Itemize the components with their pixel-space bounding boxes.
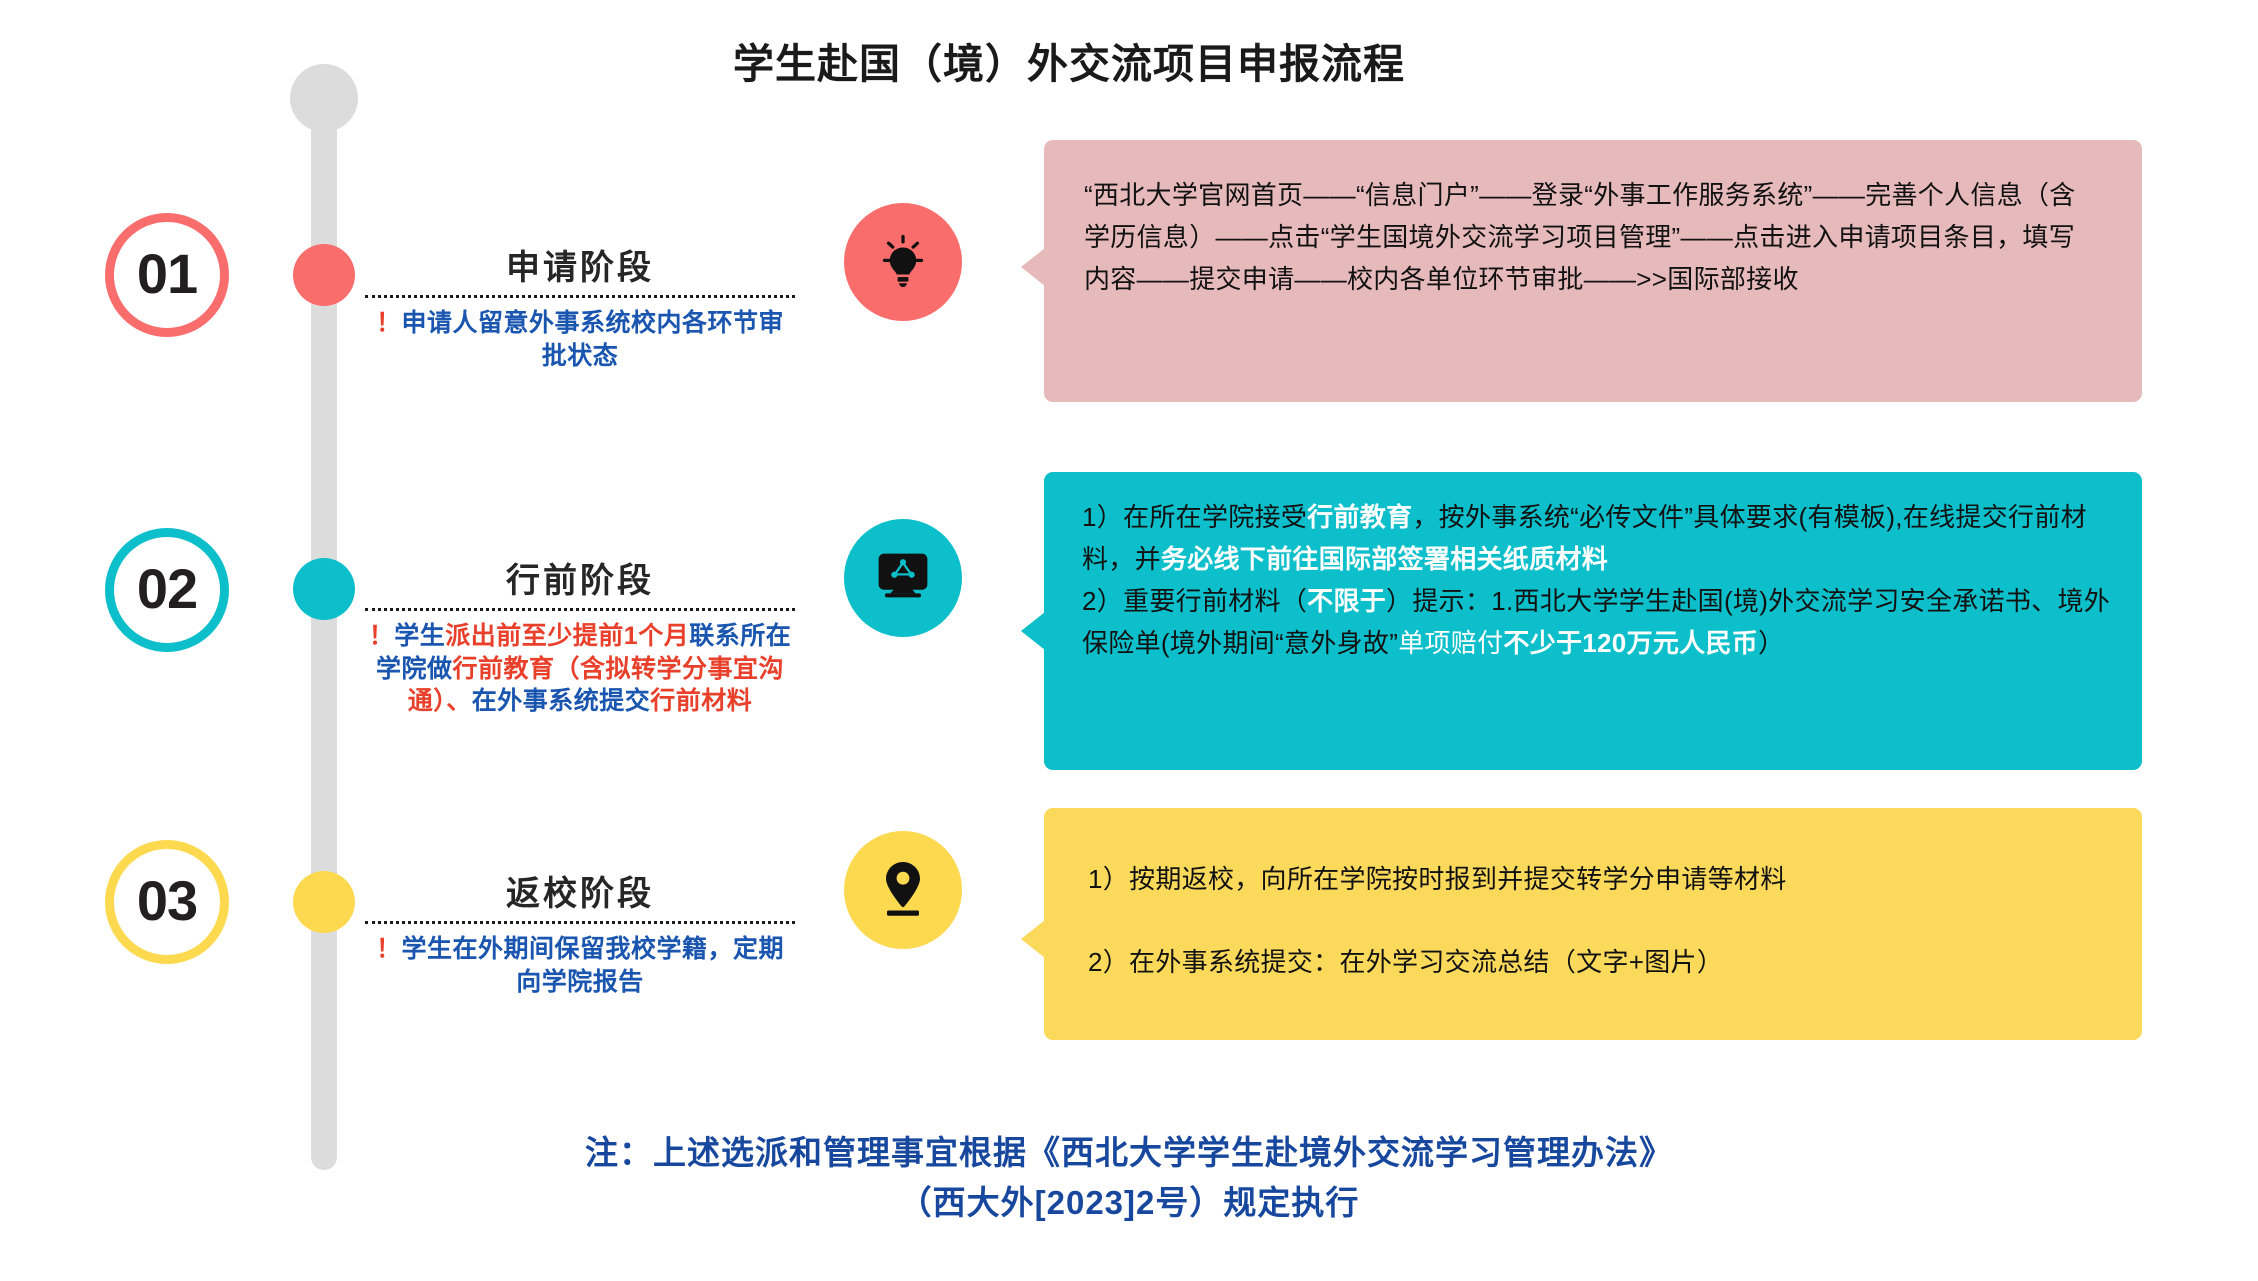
stage-card-01: “西北大学官网首页——“信息门户”——登录“外事工作服务系统”——完善个人信息（…	[1044, 140, 2142, 402]
infographic-canvas: 学生赴国（境）外交流项目申报流程 01 申请阶段 ！申请人留意外事系统校内各环节…	[0, 0, 2258, 1281]
card-paragraph: “西北大学官网首页——“信息门户”——登录“外事工作服务系统”——完善个人信息（…	[1084, 174, 2098, 300]
stage-note-02: ！学生派出前至少提前1个月联系所在学院做行前教育（含拟转学分事宜沟通）、在外事系…	[365, 620, 795, 718]
card-run-emphasis: 单项赔付	[1398, 628, 1503, 658]
stage-note-text-01: 申请人留意外事系统校内各环节审批状态	[402, 309, 785, 370]
timeline-dot-01	[293, 244, 355, 306]
stage-number-02: 02	[137, 561, 197, 617]
stage-note-text-03: 学生在外期间保留我校学籍，定期向学院报告	[402, 935, 785, 996]
card-notch-02	[1021, 612, 1045, 650]
map-pin-icon	[880, 860, 926, 920]
stage-note-seg: 派出前至少提前1个月	[445, 622, 689, 650]
stage-number-03: 03	[137, 873, 197, 929]
stage-note-seg: 在外事系统提交	[472, 687, 651, 715]
card-run-emphasis: 不少于120万元人民币	[1503, 628, 1758, 658]
stage-note-seg: 学生	[394, 622, 445, 650]
stage-label-block-01: 申请阶段 ！申请人留意外事系统校内各环节审批状态	[365, 250, 795, 372]
stage-note-bang-02: ！	[369, 622, 395, 650]
stage-label-block-02: 行前阶段 ！学生派出前至少提前1个月联系所在学院做行前教育（含拟转学分事宜沟通）…	[365, 563, 795, 718]
stage-divider-03	[365, 921, 795, 924]
easel-chart-icon	[873, 550, 933, 606]
card-run: ）	[1758, 628, 1784, 658]
footer-note: 注：上述选派和管理事宜根据《西北大学学生赴境外交流学习管理办法》 （西大外[20…	[0, 1128, 2258, 1228]
stage-number-ring-01: 01	[105, 213, 229, 337]
stage-icon-circle-02	[844, 519, 962, 637]
stage-title-01: 申请阶段	[365, 250, 795, 287]
stage-number-ring-02: 02	[105, 528, 229, 652]
stage-number-ring-03: 03	[105, 840, 229, 964]
stage-card-body-01: “西北大学官网首页——“信息门户”——登录“外事工作服务系统”——完善个人信息（…	[1084, 174, 2098, 300]
card-paragraph: 1）按期返校，向所在学院按时报到并提交转学分申请等材料	[1088, 860, 2098, 899]
timeline-dot-02	[293, 558, 355, 620]
stage-title-02: 行前阶段	[365, 563, 795, 600]
stage-note-seg: 行前材料	[650, 687, 752, 715]
stage-icon-circle-01	[844, 203, 962, 321]
stage-card-02: 1）在所在学院接受行前教育，按外事系统“必传文件”具体要求(有模板),在线提交行…	[1044, 472, 2142, 770]
lightbulb-icon	[874, 233, 932, 291]
stage-divider-01	[365, 295, 795, 298]
stage-card-body-03: 1）按期返校，向所在学院按时报到并提交转学分申请等材料 2）在外事系统提交：在外…	[1088, 860, 2098, 982]
stage-number-01: 01	[137, 246, 197, 302]
stage-card-03: 1）按期返校，向所在学院按时报到并提交转学分申请等材料 2）在外事系统提交：在外…	[1044, 808, 2142, 1040]
card-run: 1）在所在学院接受	[1082, 502, 1307, 532]
stage-note-01: ！申请人留意外事系统校内各环节审批状态	[365, 307, 795, 372]
footer-line-1: 注：上述选派和管理事宜根据《西北大学学生赴境外交流学习管理办法》	[585, 1134, 1673, 1171]
card-notch-01	[1021, 248, 1045, 286]
card-run: 2）重要行前材料（	[1082, 586, 1307, 616]
card-run-emphasis: 行前教育	[1307, 502, 1412, 532]
stage-divider-02	[365, 608, 795, 611]
stage-note-bang-03: ！	[376, 935, 402, 963]
timeline-dot-03	[293, 871, 355, 933]
stage-title-03: 返校阶段	[365, 876, 795, 913]
card-paragraph: 2）重要行前材料（不限于）提示：1.西北大学学生赴国(境)外交流学习安全承诺书、…	[1082, 580, 2116, 664]
card-run-emphasis: 务必线下前往国际部签署相关纸质材料	[1161, 544, 1608, 574]
card-paragraph: 2）在外事系统提交：在外学习交流总结（文字+图片）	[1088, 943, 2098, 982]
card-notch-03	[1021, 920, 1045, 958]
footer-line-2: （西大外[2023]2号）规定执行	[0, 1178, 2258, 1228]
stage-note-bang-01: ！	[376, 309, 402, 337]
stage-card-body-02: 1）在所在学院接受行前教育，按外事系统“必传文件”具体要求(有模板),在线提交行…	[1082, 496, 2116, 664]
stage-label-block-03: 返校阶段 ！学生在外期间保留我校学籍，定期向学院报告	[365, 876, 795, 998]
page-title-text: 学生赴国（境）外交流项目申报流程	[733, 30, 1405, 90]
card-run-emphasis: 不限于	[1307, 586, 1386, 616]
stage-note-03: ！学生在外期间保留我校学籍，定期向学院报告	[365, 933, 795, 998]
card-paragraph: 1）在所在学院接受行前教育，按外事系统“必传文件”具体要求(有模板),在线提交行…	[1082, 496, 2116, 580]
stage-icon-circle-03	[844, 831, 962, 949]
